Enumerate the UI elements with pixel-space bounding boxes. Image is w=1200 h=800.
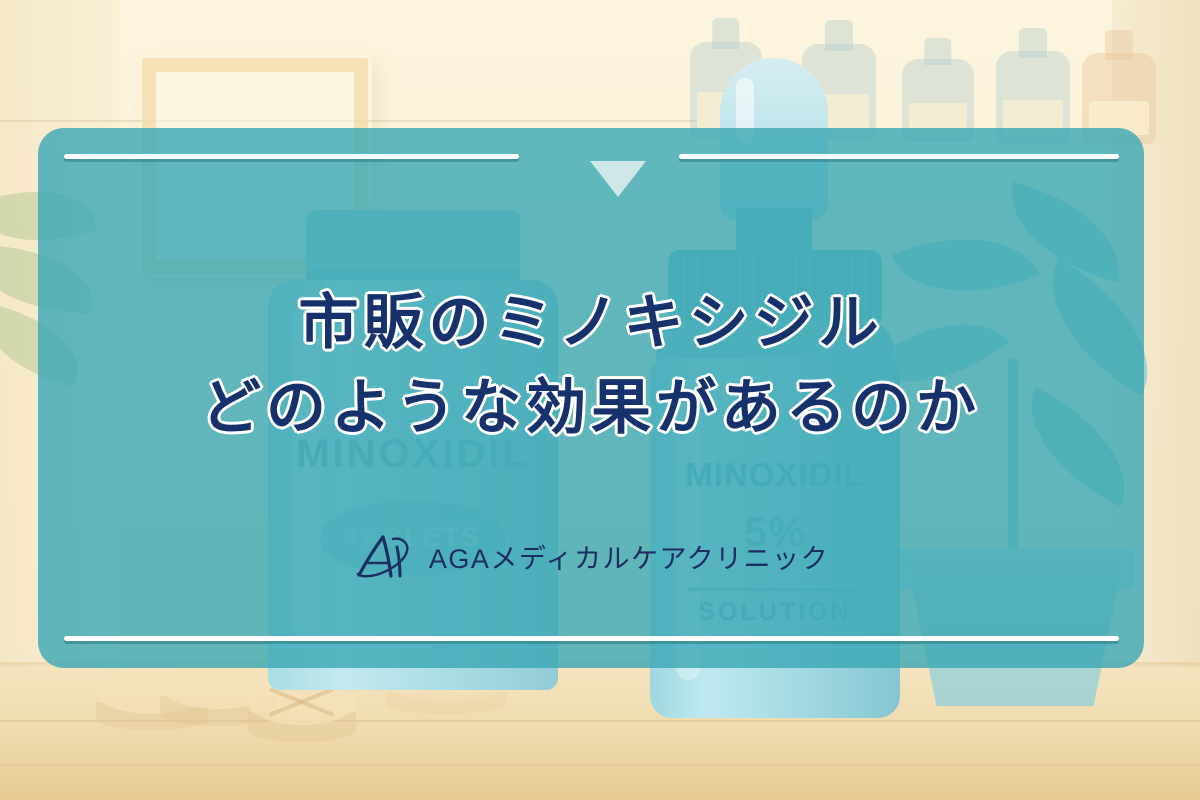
hero-banner: MINOXIDIL TABLETS MINOXIDIL 5% SOLUTION … [0,0,1200,800]
divider-bottom [64,636,1119,641]
divider-top-left [64,154,519,159]
shelf-bottle [996,28,1070,144]
page-title: 市販のミノキシジル どのような効果があるのか [38,280,1144,450]
brand-name: AGAメディカルケアクリニック [429,537,829,576]
teal-overlay-panel: 市販のミノキシジル どのような効果があるのか AGAメディカルケアクリニック [38,128,1144,668]
aga-monogram-icon [353,533,415,579]
shelf-bottle [1082,30,1156,144]
shelf-bottle [902,38,974,142]
brand-lockup: AGAメディカルケアクリニック [38,533,1144,579]
divider-top-right [679,154,1119,159]
triangle-down-icon [590,161,646,197]
